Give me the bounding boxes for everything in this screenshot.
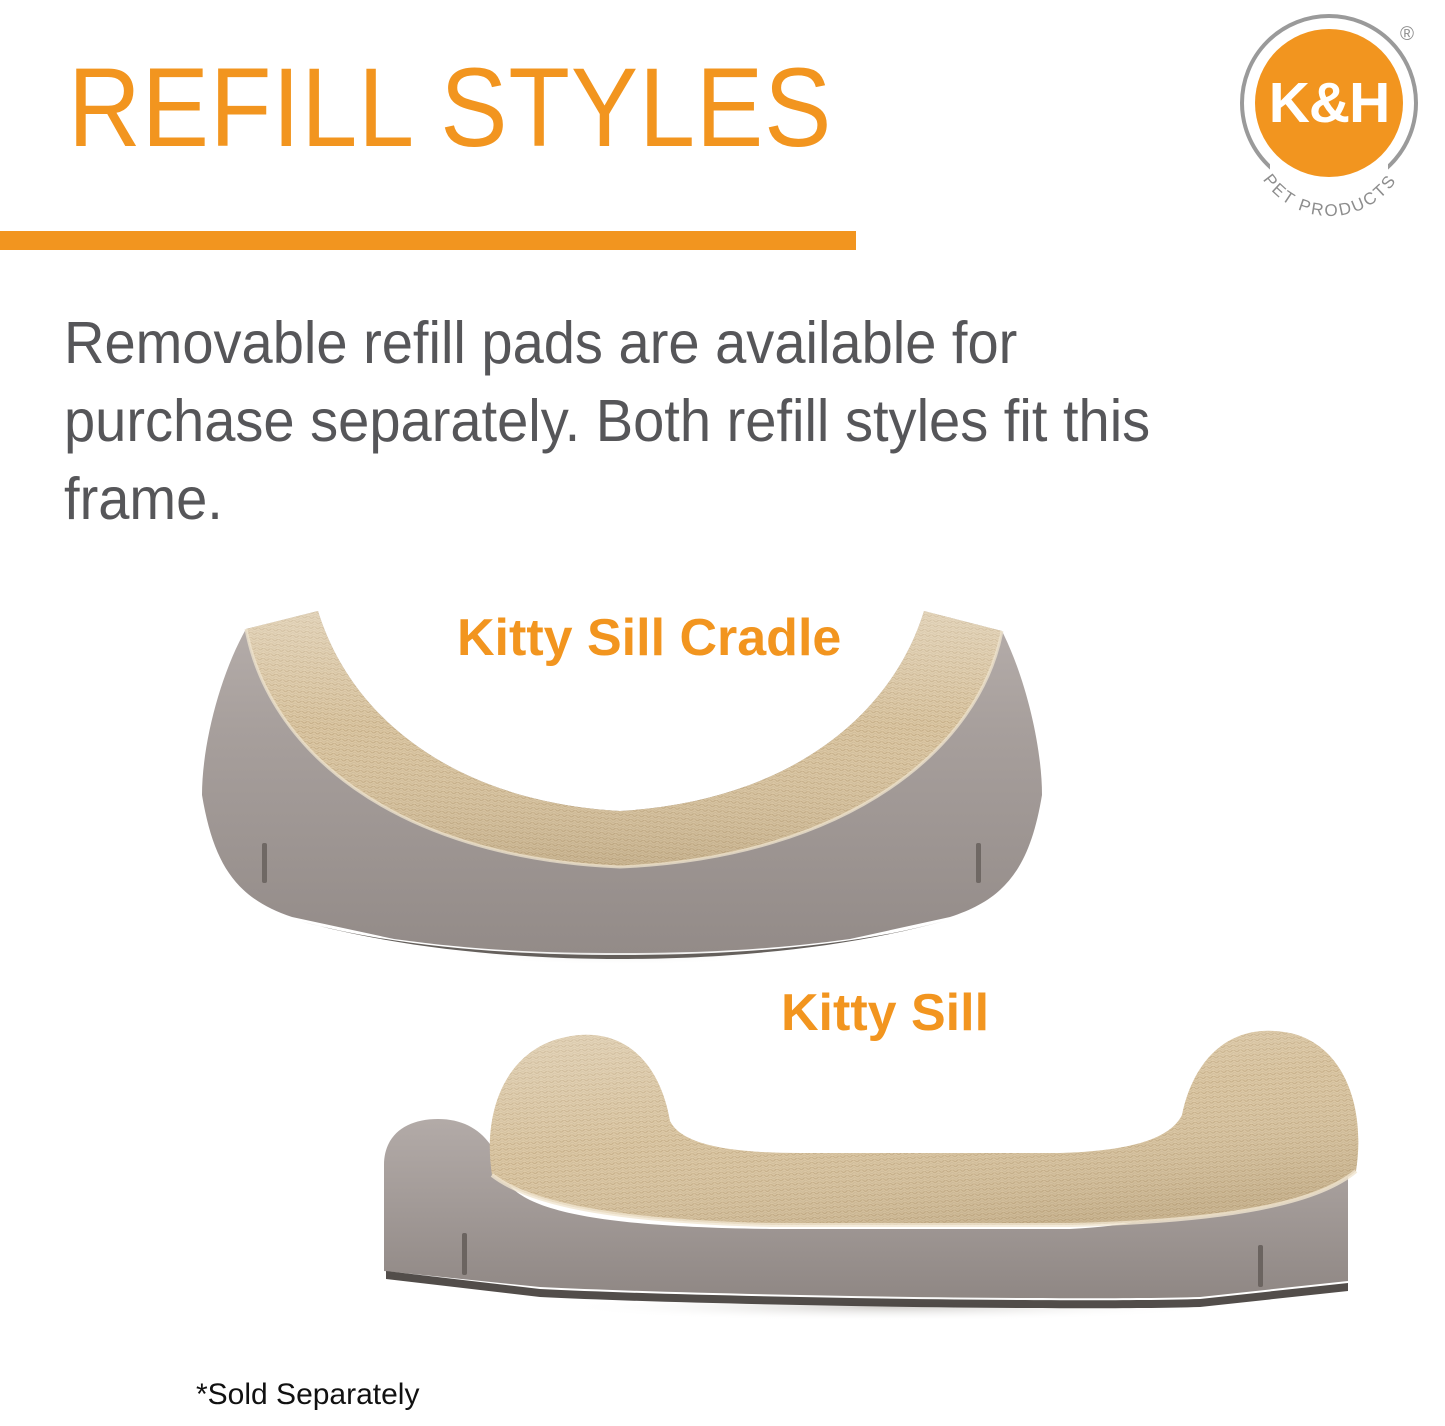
- sill-notch-right: [1258, 1245, 1263, 1287]
- product-label-kitty-sill: Kitty Sill: [781, 983, 989, 1043]
- sill-notch-left: [462, 1233, 467, 1275]
- cradle-notch-left: [262, 843, 267, 883]
- refill-styles-infographic: REFILL STYLES K&H ® PET PRODUCTS Removab…: [0, 0, 1445, 1426]
- page-title: REFILL STYLES: [68, 52, 832, 164]
- cradle-notch-right: [976, 843, 981, 883]
- description-paragraph: Removable refill pads are available for …: [64, 304, 1233, 538]
- sold-separately-footnote: *Sold Separately: [196, 1378, 419, 1412]
- title-divider-bar: [0, 231, 856, 250]
- logo-tagline-text: PET PRODUCTS: [1259, 170, 1400, 218]
- kitty-sill-image: [370, 995, 1380, 1325]
- logo-tagline-arc: PET PRODUCTS: [1232, 8, 1428, 218]
- sill-surface-shading: [490, 1031, 1359, 1225]
- kh-pet-products-logo: K&H ® PET PRODUCTS: [1232, 8, 1428, 218]
- product-label-kitty-sill-cradle: Kitty Sill Cradle: [457, 608, 841, 668]
